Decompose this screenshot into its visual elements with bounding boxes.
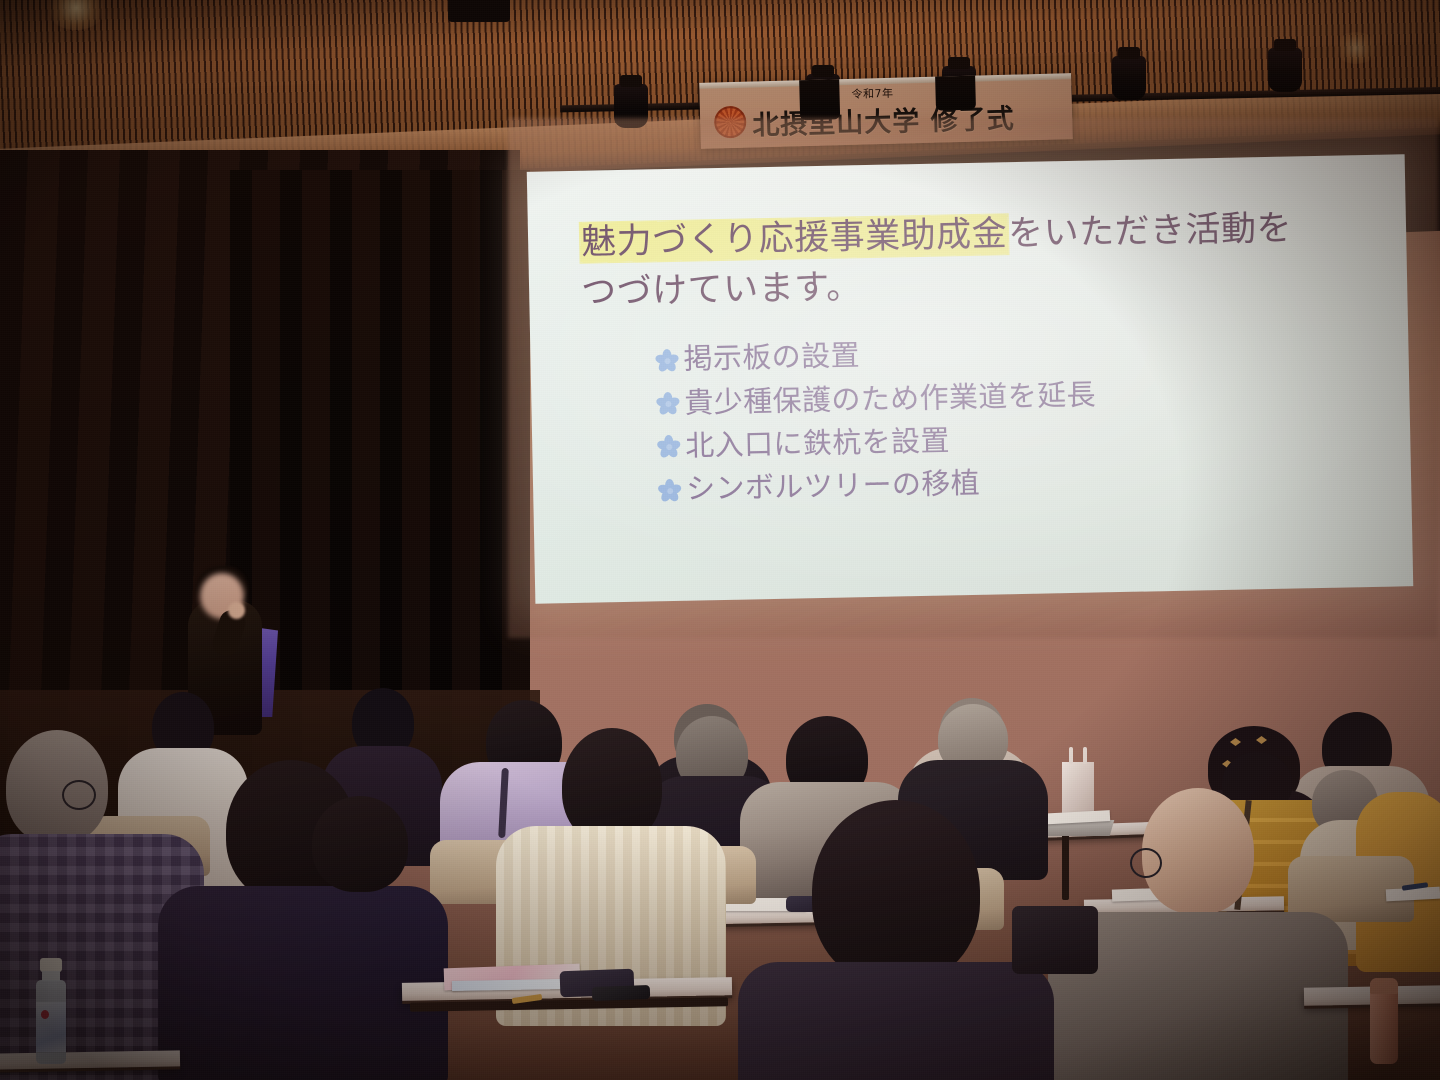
flower-bullet-icon [657, 477, 681, 501]
stage-light-5 [1268, 48, 1302, 92]
banner-occluding-light-2 [935, 73, 976, 111]
hat-diamond-1 [1230, 738, 1241, 746]
thermos-tumbler [1370, 978, 1398, 1064]
bottle-label-accent [41, 1010, 49, 1019]
slide-heading-highlighted: 魅力づくり応援事業助成金 [580, 214, 1009, 263]
document-front-center-2 [452, 979, 562, 991]
bottle-cap [40, 958, 62, 972]
slide-bullet-text: 北入口に鉄杭を設置 [685, 419, 950, 468]
slide-bullet-text: シンボルツリーの移植 [686, 462, 981, 511]
paper-bag-handle-right [1083, 747, 1087, 764]
slide-bullet-list: 掲示板の設置 貴少種保護のため作業道を延長 北入口に鉄杭を設置 シンボルツリーの… [654, 324, 1377, 511]
bag-on-floor [1012, 906, 1098, 974]
hat-diamond-2 [1256, 736, 1267, 744]
flower-bullet-icon [656, 434, 680, 458]
table-leg-back-right [1062, 834, 1069, 900]
eyeglasses-left [62, 780, 96, 810]
eyeglasses-bald [1130, 848, 1162, 878]
water-bottle [30, 958, 74, 1070]
slide-bullet-text: 貴少種保護のため作業道を延長 [684, 373, 1096, 424]
audience-torso-center-front [738, 962, 1054, 1080]
slide-heading: 魅力づくり応援事業助成金をいただき活動を つづけています。 [580, 203, 1374, 318]
flower-bullet-icon [655, 391, 679, 415]
flower-bullet-icon [654, 348, 678, 372]
stage-light-4 [1112, 56, 1146, 100]
table-front-left [0, 1050, 180, 1069]
paper-bag-handle-left [1069, 747, 1073, 764]
banner-occluding-light-1 [799, 73, 840, 120]
slide-content: 魅力づくり応援事業助成金をいただき活動を つづけています。 掲示板の設置 貴少種… [527, 154, 1413, 604]
projection-screen: 魅力づくり応援事業助成金をいただき活動を つづけています。 掲示板の設置 貴少種… [527, 154, 1413, 604]
slide-heading-rest: をいただき活動を [1008, 209, 1293, 255]
slide-bullet-text: 掲示板の設置 [683, 335, 860, 382]
audience-head-left-front [312, 796, 408, 892]
thermos-lid [1370, 978, 1398, 994]
presenter-hand-microphone [228, 602, 245, 619]
audience-head-bald-grey-sweater [1142, 788, 1254, 914]
photo-scene: 令和7年 北摂里山大学 修了式 魅力づくり応援事業助成金をいただき活動を つづけ… [0, 0, 1440, 1080]
phone-front [592, 985, 650, 1001]
audience-head-center-front [812, 800, 980, 984]
ceiling-light-housing [448, 0, 510, 22]
slide-heading-line2: つづけています。 [581, 267, 862, 313]
bottle-label [36, 1002, 66, 1052]
